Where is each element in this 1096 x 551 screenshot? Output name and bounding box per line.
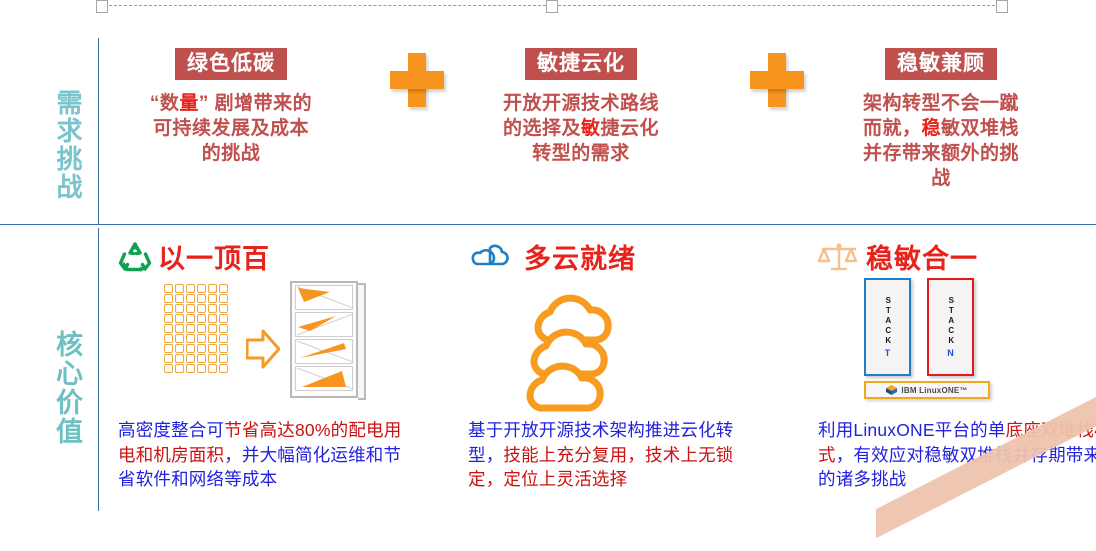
value-heading-row: 多云就绪 xyxy=(468,240,768,278)
challenge-card-agile-cloud: 敏捷云化 开放开源技术路线的选择及敏捷云化转型的需求 xyxy=(496,48,666,166)
challenge-body-emphasis: 稳 xyxy=(921,118,941,139)
challenge-body-emphasis: 量 xyxy=(179,93,199,114)
value-heading: 多云就绪 xyxy=(524,246,636,273)
value-card-stable-agile-unified: 稳敏合一 STACK T STACK N IBM LinuxON xyxy=(818,240,1096,492)
plus-icon-2 xyxy=(750,53,804,107)
stack-mark: N xyxy=(947,349,954,358)
value-card-one-for-hundred: 以一顶百 xyxy=(118,240,418,492)
value-description: 利用LinuxONE平台的单底座双堆栈模式，有效应对稳敏双堆栈并存期带来的诸多挑… xyxy=(818,418,1096,492)
dual-stack-linuxone-illustration: STACK T STACK N IBM LinuxONE™ xyxy=(818,278,1096,418)
sidebar-section-core-value: 核心价值 xyxy=(14,300,84,475)
horizontal-divider xyxy=(0,224,1096,225)
value-description-part: 利用LinuxONE平台的单 xyxy=(818,420,1006,440)
selection-handle-left[interactable] xyxy=(96,0,108,13)
challenge-heading: 敏捷云化 xyxy=(525,48,637,80)
value-description: 基于开放开源技术架构推进云化转型，技能上充分复用，技术上无锁定，定位上灵活选择 xyxy=(468,418,768,492)
challenge-body: “数量” 剧增带来的可持续发展及成本的挑战 xyxy=(146,91,316,166)
challenge-heading: 绿色低碳 xyxy=(175,48,287,80)
selection-handle-center[interactable] xyxy=(546,0,558,13)
server-grid-icon xyxy=(164,284,228,373)
arrow-right-icon xyxy=(246,328,280,370)
selection-handle-right[interactable] xyxy=(996,0,1008,13)
challenge-body-part: “数 xyxy=(150,93,180,114)
linuxone-platform-badge: IBM LinuxONE™ xyxy=(864,381,990,399)
servers-to-rack-illustration xyxy=(118,278,418,418)
value-heading-row: 稳敏合一 xyxy=(818,240,1096,278)
challenge-heading: 稳敏兼顾 xyxy=(885,48,997,80)
challenge-card-green-low-carbon: 绿色低碳 “数量” 剧增带来的可持续发展及成本的挑战 xyxy=(146,48,316,166)
value-description-part: 高密度整合可 xyxy=(118,420,224,440)
recycle-icon xyxy=(118,241,152,278)
cloud-stack-icon xyxy=(508,282,638,417)
stack-label: STACK xyxy=(883,296,892,346)
stack-label: STACK xyxy=(946,296,955,346)
linuxone-badge-text: IBM LinuxONE™ xyxy=(901,386,967,395)
sidebar-section-demand-challenges: 需求挑战 xyxy=(14,80,84,210)
plus-icon-1 xyxy=(390,53,444,107)
stack-mark: T xyxy=(885,349,891,358)
value-description: 高密度整合可节省高达80%的配电用电和机房面积，并大幅简化运维和节省软件和网络等… xyxy=(118,418,418,492)
challenge-body: 架构转型不会一蹴而就，稳敏双堆栈并存带来额外的挑战 xyxy=(856,91,1026,191)
selection-bracket[interactable] xyxy=(96,0,1008,14)
value-heading: 以一顶百 xyxy=(158,246,270,273)
value-heading-row: 以一顶百 xyxy=(118,240,418,278)
cloud-icon xyxy=(468,242,518,277)
dual-stack-group: STACK T STACK N IBM LinuxONE™ xyxy=(864,278,1014,399)
balance-scale-icon xyxy=(818,241,860,278)
value-description-highlight: 技能上充分复用，技术上无锁定，定位上灵活选择 xyxy=(468,445,734,490)
challenge-body: 开放开源技术路线的选择及敏捷云化转型的需求 xyxy=(496,91,666,166)
value-heading: 稳敏合一 xyxy=(866,246,978,273)
vertical-divider-top xyxy=(98,38,99,224)
challenge-card-stable-agile-balance: 稳敏兼顾 架构转型不会一蹴而就，稳敏双堆栈并存带来额外的挑战 xyxy=(856,48,1026,191)
stack-box-t: STACK T xyxy=(864,278,911,376)
linuxone-logo-icon xyxy=(886,385,897,395)
server-rack-icon xyxy=(290,281,358,398)
stack-box-n: STACK N xyxy=(927,278,974,376)
stacked-clouds-illustration xyxy=(468,278,768,418)
value-card-multicloud-ready: 多云就绪 基于开放开源技术架构推进云化转型，技能上充分复用，技术上无锁定，定位上… xyxy=(468,240,768,492)
vertical-divider-bottom xyxy=(98,228,99,511)
value-description-part: ，有效应对稳敏双堆栈并存期带来的诸多挑战 xyxy=(818,445,1096,490)
challenge-body-emphasis: 敏 xyxy=(581,118,601,139)
